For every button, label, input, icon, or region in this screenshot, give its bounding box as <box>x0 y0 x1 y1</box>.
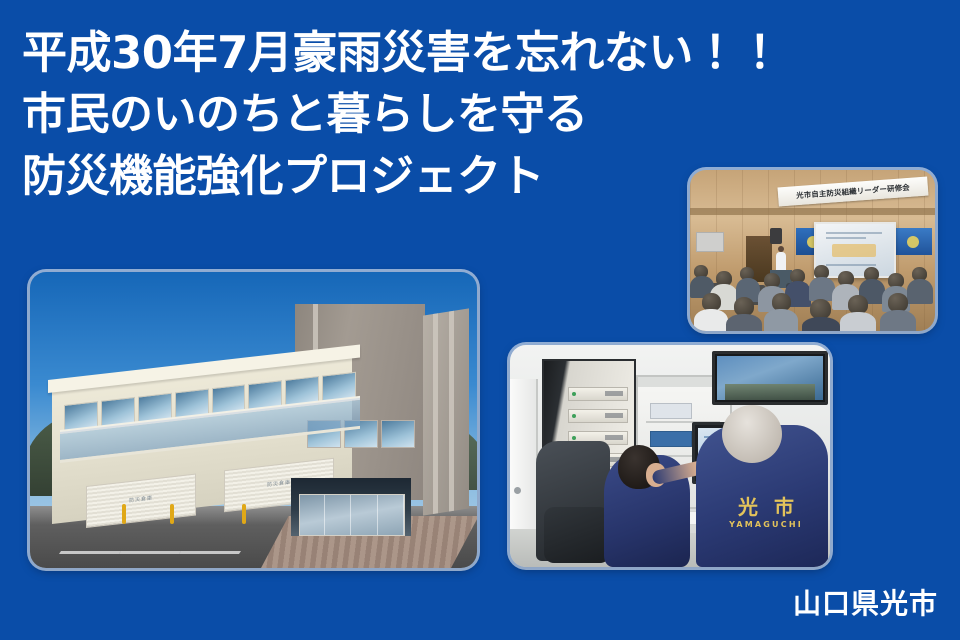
rack-panel <box>605 435 623 440</box>
storage-box <box>650 431 692 447</box>
status-led-icon <box>572 436 576 440</box>
attendee-body <box>880 310 916 331</box>
building-tower-side <box>423 308 469 515</box>
shutter-label: 防災倉庫 <box>267 479 291 489</box>
rack-unit <box>568 387 628 401</box>
attendee-body <box>726 314 762 331</box>
photo-leader-training-seminar: 光市自主防災組織リーダー研修会 <box>690 170 935 331</box>
control-room-scene: 光市 YAMAGUCHI <box>510 345 830 567</box>
glass-panel <box>353 495 378 535</box>
wall-monitor <box>712 351 828 405</box>
seminar-scene: 光市自主防災組織リーダー研修会 <box>690 170 935 331</box>
jacket-roman-text: YAMAGUCHI <box>714 521 818 529</box>
photo-disaster-prevention-building: 防災倉庫 防災倉庫 <box>30 272 477 568</box>
glass-panel <box>300 495 325 535</box>
tower-fin <box>433 313 438 514</box>
city-credit: 山口県光市 <box>793 582 938 622</box>
attendee-body <box>907 279 933 304</box>
attendee-head <box>810 299 831 319</box>
attendee-body <box>802 317 840 331</box>
title-line-1: 平成30年7月豪雨災害を忘れない！！ <box>22 22 922 84</box>
room-door <box>510 379 538 529</box>
entrance-glass-doors <box>299 494 405 536</box>
wall-monitor-screen <box>717 356 823 400</box>
poster-slide: 平成30年7月豪雨災害を忘れない！！ 市民のいのちと暮らしを守る 防災機能強化プ… <box>0 0 960 640</box>
ceiling-beam <box>690 208 935 215</box>
building-scene: 防災倉庫 防災倉庫 <box>30 272 477 568</box>
parking-stall-line <box>179 551 241 554</box>
rack-panel <box>605 391 623 396</box>
audience <box>690 259 935 331</box>
shutter-label: 防災倉庫 <box>129 495 153 505</box>
attendee-body <box>694 309 728 331</box>
jacket-kanji-text: 光市 <box>714 497 818 517</box>
tower-fin <box>449 311 454 512</box>
window <box>381 420 415 448</box>
parking-stall-line <box>119 551 181 554</box>
parking-stall-line <box>59 551 121 554</box>
slide-line <box>826 232 882 234</box>
operator-man-head <box>722 405 782 463</box>
speaker-icon <box>770 228 782 244</box>
door-knob-icon <box>514 487 521 494</box>
slide-line <box>826 237 866 239</box>
storage-box <box>650 403 692 419</box>
jacket-logo: 光市 YAMAGUCHI <box>714 497 818 529</box>
bollard <box>170 504 174 524</box>
bollard <box>122 504 126 524</box>
attendee-body <box>764 309 798 331</box>
rack-panel <box>605 413 623 418</box>
ceremonial-flag <box>894 228 932 255</box>
glass-panel <box>380 495 405 535</box>
rack-unit <box>568 409 628 423</box>
flag-emblem-icon <box>907 236 919 248</box>
attendee-body <box>840 312 876 331</box>
wall-notice-board <box>696 232 724 252</box>
status-led-icon <box>572 392 576 396</box>
status-led-icon <box>572 414 576 418</box>
bollard <box>242 504 246 524</box>
glass-panel <box>327 495 352 535</box>
title-line-2: 市民のいのちと暮らしを守る <box>22 84 922 146</box>
office-chair <box>536 441 610 561</box>
photo-disaster-radio-control-room: 光市 YAMAGUCHI <box>510 345 830 567</box>
slide-figure <box>832 244 876 257</box>
